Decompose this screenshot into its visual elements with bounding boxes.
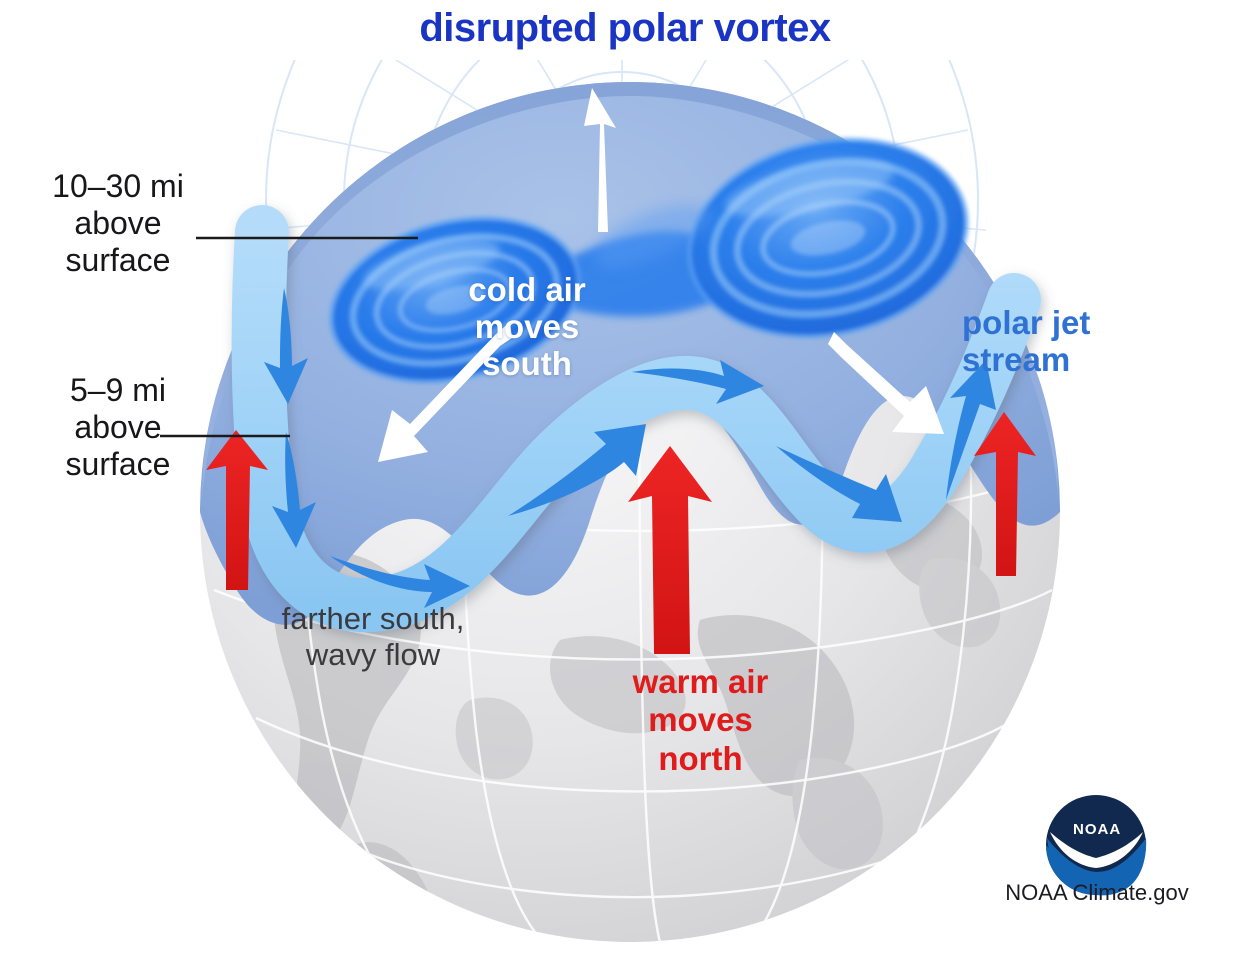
diagram-canvas: disrupted polar vortex 10–30 mi above su… bbox=[0, 0, 1250, 954]
callout-stratosphere-altitude: 10–30 mi above surface bbox=[18, 168, 218, 279]
label-cold-air-moves-south: cold air moves south bbox=[432, 272, 622, 383]
label-farther-south-wavy-flow: farther south, wavy flow bbox=[258, 601, 488, 673]
callout-troposphere-altitude: 5–9 mi above surface bbox=[18, 372, 218, 483]
noaa-climate-gov-caption: NOAA Climate.gov bbox=[1002, 880, 1192, 906]
label-warm-air-moves-north: warm air moves north bbox=[608, 663, 793, 778]
label-polar-jet-stream: polar jet stream bbox=[962, 305, 1162, 379]
page-title: disrupted polar vortex bbox=[0, 6, 1250, 51]
globe bbox=[200, 0, 1060, 950]
noaa-logo-wordmark: NOAA bbox=[1073, 821, 1119, 838]
